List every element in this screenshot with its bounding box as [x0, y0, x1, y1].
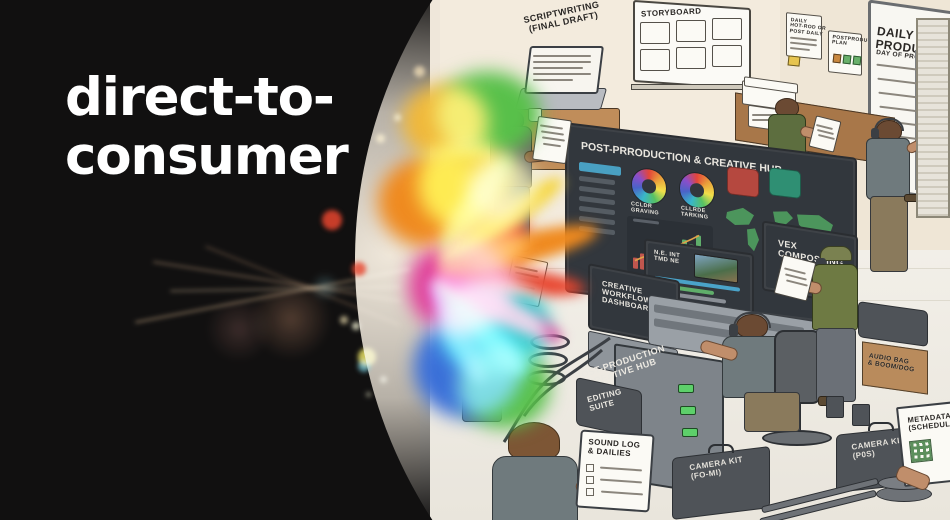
- editor-legs: [744, 392, 800, 432]
- banner-root: SCRIPTWRITING (FINAL DRAFT) STORYBOARD D…: [0, 0, 950, 520]
- label-sound-log: SOUND LOG & DAILIES: [587, 438, 640, 459]
- qr-code: [909, 439, 933, 463]
- clipboard-presenter: [532, 116, 572, 164]
- illustration-canvas: SCRIPTWRITING (FINAL DRAFT) STORYBOARD D…: [355, 0, 950, 520]
- left-person-body: [458, 268, 504, 334]
- small-block: [826, 396, 844, 418]
- dashboard-tile-red: [727, 166, 759, 198]
- cap-person-legs: [816, 328, 856, 402]
- label-color-grading: CCLDR GRAVING: [631, 202, 659, 217]
- rack-unit: [682, 428, 698, 437]
- rack-unit: [680, 406, 696, 415]
- foreground-person-body: [492, 456, 578, 520]
- page-title: direct-to- consumer: [65, 68, 395, 187]
- preview-thumb: [694, 253, 738, 283]
- person-whiteboard-legs: [870, 196, 908, 272]
- label-nle-timeline: N.E. INT TMD NE: [654, 250, 680, 267]
- label-creative-dashboard: CREATIVE WORKFLOW DASHBOARD: [602, 280, 654, 314]
- illustration-circle-mask: SCRIPTWRITING (FINAL DRAFT) STORYBOARD D…: [355, 0, 950, 520]
- foreground-person-hair: [508, 422, 560, 460]
- dashboard-tile-green: [769, 167, 801, 199]
- case-handle: [868, 422, 894, 431]
- color-wheel-1: [631, 166, 667, 206]
- case-handle: [708, 444, 734, 453]
- headline-line-2: consumer: [65, 127, 395, 186]
- window-blinds: [916, 18, 950, 218]
- left-person-legs: [462, 332, 502, 422]
- laptop-screen: [524, 46, 604, 94]
- chair-base: [762, 430, 832, 446]
- camera-kit-case-left: [672, 446, 770, 520]
- cap-person-body: [812, 264, 858, 330]
- small-block: [852, 404, 870, 426]
- presenter-legs: [494, 186, 530, 252]
- color-wheel-2: [679, 170, 715, 210]
- board-shelf: [631, 84, 753, 90]
- person-whiteboard-body: [866, 138, 910, 200]
- rack-unit: [678, 384, 694, 393]
- headline-line-1: direct-to-: [65, 67, 334, 128]
- label-color-timing: CLLRDE TARKING: [681, 206, 708, 221]
